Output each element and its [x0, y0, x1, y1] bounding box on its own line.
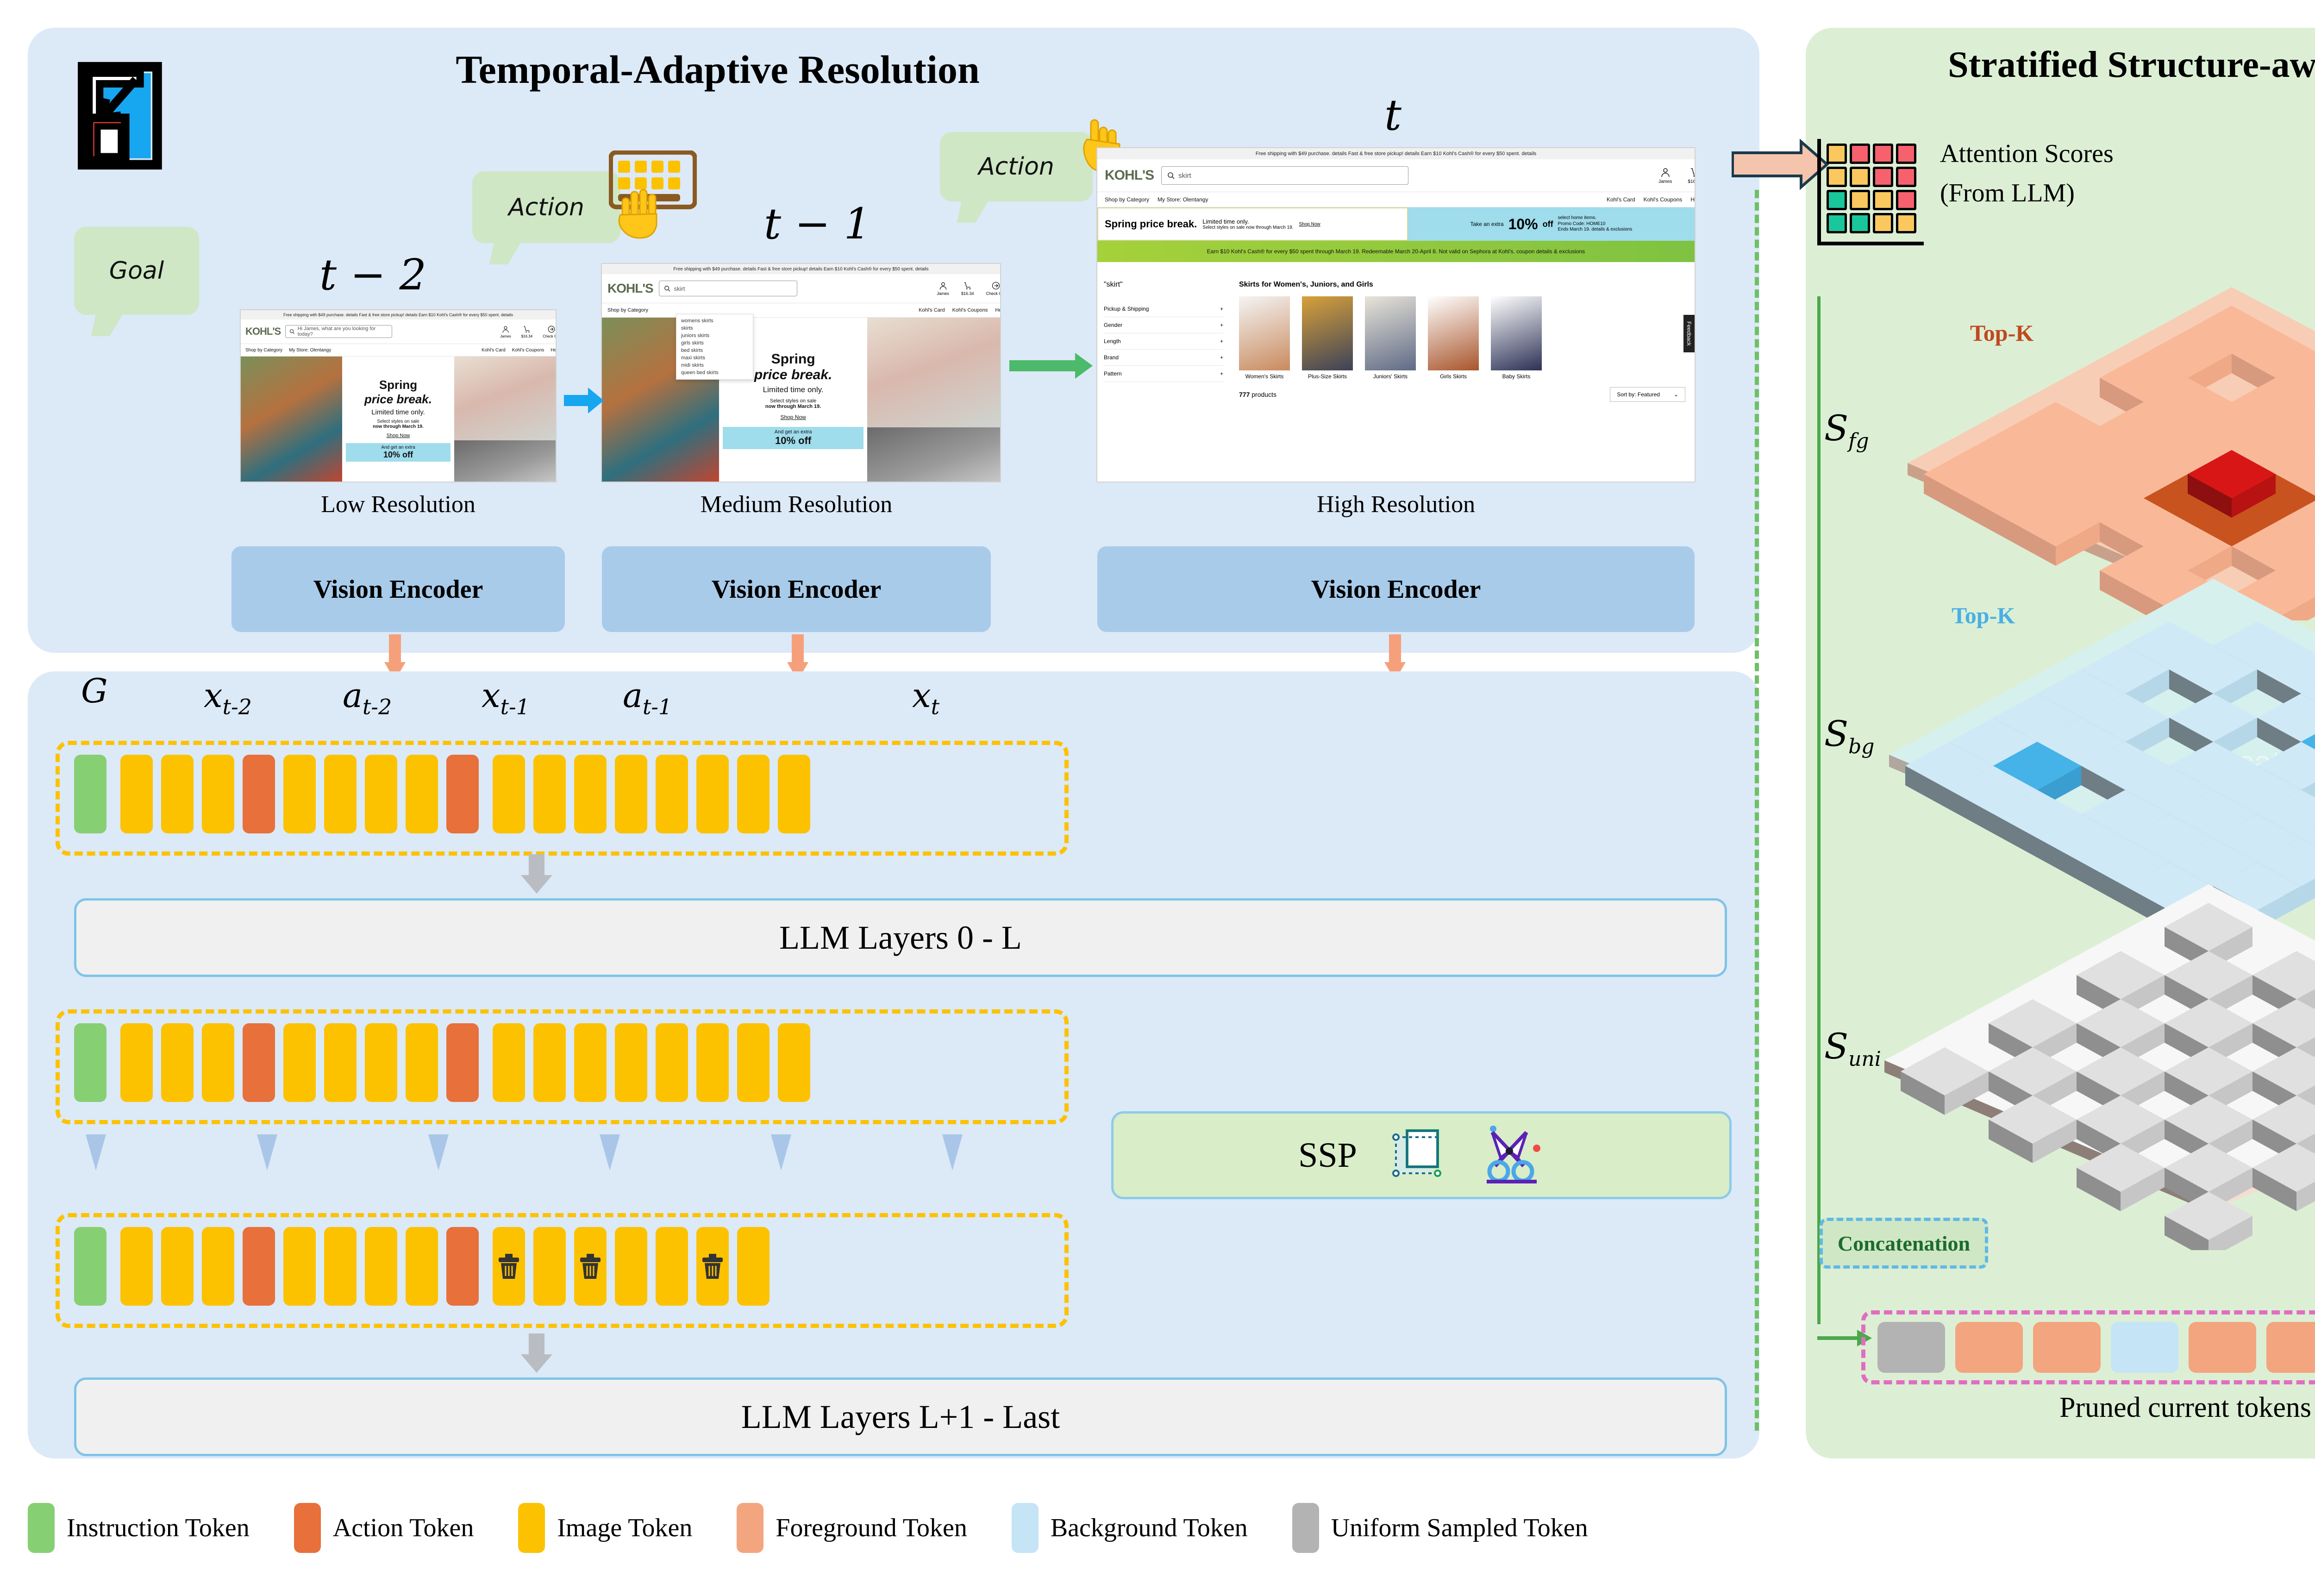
- cart-icon: [1689, 167, 1695, 178]
- checkout-label: Check Out: [543, 334, 556, 338]
- arrow-to-llm-first: [521, 854, 552, 894]
- hero-shoes-photo: [454, 440, 556, 482]
- seq-label-a-t-1-text: a: [623, 676, 643, 715]
- arrow-low-to-medium: [564, 387, 604, 417]
- promo-home-pct: 10%: [1508, 216, 1538, 233]
- vision-encoder-label: Vision Encoder: [1311, 575, 1481, 604]
- attention-cell: [1873, 190, 1893, 210]
- token-image[interactable]: [406, 755, 438, 833]
- token-image[interactable]: [202, 1227, 234, 1306]
- passthrough-chevron: [942, 1134, 963, 1170]
- hero-sub-2: Select styles on sale: [770, 398, 816, 404]
- category-label: Women's Skirts: [1239, 373, 1290, 380]
- attention-score-grid: [1827, 144, 1916, 233]
- category-card[interactable]: Women's Skirts: [1239, 296, 1290, 380]
- s-fg-sub: fg: [1848, 429, 1869, 453]
- token-image-current[interactable]: [574, 1023, 607, 1102]
- facet-row[interactable]: Gender+: [1104, 317, 1223, 333]
- search-icon: [1167, 172, 1175, 179]
- hero-bedding-photo: [867, 318, 1000, 427]
- attention-cell: [1850, 213, 1870, 233]
- token-action[interactable]: [243, 755, 275, 833]
- attention-cell: [1827, 213, 1847, 233]
- category-thumb: [1365, 296, 1416, 370]
- hero-sub-2: Select styles on sale: [377, 419, 419, 424]
- seq-label-x-t-1-sub: t-1: [501, 694, 530, 719]
- pruned-token-blue[interactable]: [2111, 1322, 2178, 1373]
- user-icon: [1660, 167, 1671, 178]
- pruned-tokens-caption: Pruned current tokens: [1861, 1391, 2315, 1424]
- account-button[interactable]: James: [500, 325, 511, 338]
- token-sequence-row-3: [74, 1227, 770, 1306]
- s-fg-label: Sfg: [1824, 407, 1869, 453]
- seq-label-a-t-1: at-1: [623, 676, 672, 719]
- nav-kohls-card[interactable]: Kohl's Card: [919, 307, 945, 313]
- checkout-button[interactable]: Check Out: [986, 281, 1000, 296]
- token-action[interactable]: [243, 1023, 275, 1102]
- cart-icon: [523, 325, 531, 333]
- hero-photo: [241, 357, 342, 482]
- search-input[interactable]: skirt: [659, 281, 797, 296]
- token-image[interactable]: [283, 755, 316, 833]
- action-bubble-2: Action: [940, 132, 1093, 201]
- attention-cell: [1827, 144, 1847, 164]
- attention-scores-label-line2: (From LLM): [1940, 178, 2075, 208]
- nav-kohls-card[interactable]: Kohl's Card: [482, 348, 505, 353]
- vision-encoder-label: Vision Encoder: [313, 575, 483, 604]
- sort-label: Sort by: Featured: [1617, 391, 1660, 398]
- facet-label: Pattern: [1104, 370, 1122, 377]
- s-bg-text: S: [1824, 713, 1848, 754]
- s-uni-text: S: [1824, 1026, 1848, 1067]
- hero-cta[interactable]: Shop Now: [780, 414, 806, 420]
- token-image[interactable]: [161, 1227, 194, 1306]
- hero-title-2: price break.: [754, 367, 832, 383]
- cart-total: $16.34: [961, 291, 974, 296]
- goal-bubble: Goal: [74, 227, 199, 315]
- cart-button[interactable]: $16.34: [1688, 167, 1695, 184]
- seq-label-a-t-2: at-2: [343, 676, 392, 719]
- suggestion-item[interactable]: midi skirts: [676, 362, 753, 369]
- token-image[interactable]: [120, 1227, 153, 1306]
- attention-axis-y: [1817, 139, 1821, 245]
- extra-1: And get an extra: [346, 445, 450, 450]
- promo-spring-detail: Select styles on sale now through March …: [1202, 225, 1293, 230]
- resize-icon: [74, 60, 181, 171]
- cart-total: $16.34: [1688, 179, 1695, 184]
- legend-label: Background Token: [1051, 1513, 1248, 1543]
- promo-banner: Free shipping with $49 purchase. details…: [1097, 148, 1695, 159]
- nav-shop-by-category[interactable]: Shop by Category: [1105, 196, 1149, 203]
- account-button[interactable]: James: [937, 281, 949, 296]
- product-count-suffix: products: [1251, 391, 1276, 398]
- legend-label: Action Token: [333, 1513, 474, 1543]
- token-image-current[interactable]: [615, 755, 647, 833]
- seq-label-x-t-2-text: x: [204, 676, 223, 715]
- legend-item: Instruction Token: [28, 1503, 250, 1553]
- search-value: skirt: [1178, 172, 1191, 180]
- pruned-token-orange[interactable]: [2189, 1322, 2256, 1373]
- legend-swatch: [737, 1503, 763, 1553]
- category-label: Girls Skirts: [1428, 373, 1479, 380]
- legend-label: Instruction Token: [67, 1513, 250, 1543]
- legend-item: Image Token: [518, 1503, 692, 1553]
- resolution-label-medium: Medium Resolution: [602, 491, 991, 518]
- seq-label-x-t-2: xt-2: [204, 676, 252, 719]
- concatenation-pill[interactable]: Concatenation: [1820, 1218, 1988, 1269]
- trash-icon: [701, 1252, 725, 1281]
- panel-connector-dashed-line: [1755, 190, 1759, 1431]
- category-thumb: [1428, 296, 1479, 370]
- hero-sub-1: Limited time only.: [763, 385, 824, 394]
- arrow-medium-to-high: [1009, 352, 1093, 382]
- pruned-token-orange[interactable]: [1955, 1322, 2023, 1373]
- attention-cell: [1873, 144, 1893, 164]
- action-bubble-2-label: Action: [978, 153, 1054, 181]
- nav-kohls-coupons[interactable]: Kohl's Coupons: [1644, 196, 1683, 203]
- arrow-right-circle-icon: [991, 281, 1000, 290]
- token-image-current[interactable]: [778, 755, 810, 833]
- seq-label-a-t-2-text: a: [343, 676, 363, 715]
- hero-sub-1: Limited time only.: [371, 408, 425, 416]
- hero-title-1: Spring: [379, 378, 417, 392]
- token-action[interactable]: [446, 1227, 479, 1306]
- arrow-to-llm-last: [521, 1333, 552, 1373]
- category-label: Juniors' Skirts: [1365, 373, 1416, 380]
- token-sequence-row-1: [74, 755, 810, 833]
- promo-home-lead: Take an extra: [1470, 221, 1504, 227]
- time-label-t-minus-1: t − 1: [764, 199, 871, 249]
- account-name: James: [1658, 179, 1672, 184]
- trash-icon: [497, 1252, 521, 1281]
- token-image[interactable]: [161, 1023, 194, 1102]
- extra-1: And get an extra: [723, 429, 863, 435]
- attention-scores-label-line1: Attention Scores: [1940, 139, 2114, 169]
- search-icon: [289, 329, 294, 334]
- passthrough-chevron: [86, 1134, 106, 1170]
- suggestion-item[interactable]: bed skirts: [676, 347, 753, 354]
- token-image[interactable]: [365, 1023, 397, 1102]
- topk-foreground-label: Top-K: [1970, 319, 2033, 346]
- arrow-right-circle-icon: [547, 325, 556, 333]
- topk-background-label: Top-K: [1952, 602, 2015, 629]
- seq-label-goal: G: [81, 671, 108, 710]
- search-value: skirt: [674, 285, 685, 292]
- seq-label-x-t-1: xt-1: [482, 676, 530, 719]
- attention-cell: [1827, 190, 1847, 210]
- token-image-current[interactable]: [574, 755, 607, 833]
- feedback-label: Feedback: [1686, 321, 1692, 346]
- kohls-logo: KOHL'S: [245, 325, 281, 338]
- passthrough-chevron: [771, 1134, 791, 1170]
- query-heading: "skirt": [1104, 281, 1223, 289]
- nav-help[interactable]: Help: [995, 307, 1000, 313]
- nav-shop-by-category[interactable]: Shop by Category: [245, 348, 282, 353]
- token-image-current[interactable]: [493, 755, 525, 833]
- token-image[interactable]: [324, 755, 357, 833]
- hero-cta[interactable]: Shop Now: [387, 433, 410, 438]
- search-placeholder: Hi James, what are you looking for today…: [298, 326, 388, 337]
- search-icon: [664, 285, 670, 292]
- suggestion-item[interactable]: girls skirts: [676, 339, 753, 347]
- product-count: 777: [1239, 391, 1250, 398]
- passthrough-chevron: [600, 1134, 620, 1170]
- attention-cell: [1850, 190, 1870, 210]
- seq-label-x-t-text: x: [912, 676, 931, 715]
- vision-encoder-label: Vision Encoder: [712, 575, 882, 604]
- llm-layers-last-box[interactable]: LLM Layers L+1 - Last: [74, 1377, 1727, 1456]
- category-card[interactable]: Baby Skirts: [1491, 296, 1542, 380]
- promo-home-line3: Promo Code: HOME10: [1558, 221, 1633, 227]
- facet-row[interactable]: Brand+: [1104, 350, 1223, 366]
- facet-row[interactable]: Pattern+: [1104, 366, 1223, 382]
- legend-label: Uniform Sampled Token: [1331, 1513, 1588, 1543]
- token-instruction[interactable]: [74, 1227, 106, 1306]
- nav-help[interactable]: Help: [551, 348, 556, 353]
- kohls-logo: KOHL'S: [607, 281, 653, 296]
- ssp-label: SSP: [1298, 1135, 1357, 1176]
- nav-my-store[interactable]: My Store: Olentangy: [1157, 196, 1208, 203]
- token-instruction[interactable]: [74, 1023, 106, 1102]
- token-image-current[interactable]: [737, 1227, 770, 1306]
- plus-icon: +: [1220, 370, 1223, 377]
- passthrough-chevron: [257, 1134, 277, 1170]
- seq-label-goal-text: G: [81, 671, 108, 710]
- page-title-left: Temporal-Adaptive Resolution: [324, 46, 1111, 93]
- promo-kohls-cash-strip[interactable]: Earn $10 Kohl's Cash® for every $50 spen…: [1097, 241, 1695, 262]
- suggestion-item[interactable]: queen bed skirts: [676, 369, 753, 376]
- token-image[interactable]: [202, 1023, 234, 1102]
- hero-title-2: price break.: [364, 392, 432, 407]
- search-input[interactable]: Hi James, what are you looking for today…: [285, 325, 392, 338]
- seq-label-a-t-2-sub: t-2: [363, 694, 392, 719]
- plus-icon: +: [1220, 322, 1223, 328]
- extra-2: 10% off: [723, 435, 863, 447]
- token-action[interactable]: [446, 755, 479, 833]
- token-image-current[interactable]: [656, 1023, 688, 1102]
- suggestion-item[interactable]: maxi skirts: [676, 354, 753, 362]
- promo-banner: Free shipping with $49 purchase. details…: [602, 264, 1000, 274]
- token-image-pruned[interactable]: [696, 1227, 729, 1306]
- resolution-label-low: Low Resolution: [231, 491, 565, 518]
- facet-label: Brand: [1104, 354, 1119, 361]
- nav-kohls-coupons[interactable]: Kohl's Coupons: [512, 348, 544, 353]
- cart-total: $16.34: [521, 334, 532, 338]
- kohls-logo: KOHL'S: [1105, 168, 1154, 183]
- token-image[interactable]: [202, 755, 234, 833]
- hero-sub-3: now through March 19.: [373, 424, 423, 429]
- promo-home-strip[interactable]: Take an extra 10% off select home items.…: [1408, 207, 1695, 241]
- token-sequence-row-2: [74, 1023, 810, 1102]
- hero-bedding-photo: [454, 357, 556, 440]
- category-thumb: [1302, 296, 1353, 370]
- legend-item: Action Token: [294, 1503, 474, 1553]
- legend-item: Foreground Token: [737, 1503, 967, 1553]
- token-image[interactable]: [161, 755, 194, 833]
- legend-swatch: [28, 1503, 55, 1553]
- legend-swatch: [518, 1503, 545, 1553]
- action-bubble-1: Action: [472, 171, 620, 243]
- category-card[interactable]: Juniors' Skirts: [1365, 296, 1416, 380]
- plus-icon: +: [1220, 354, 1223, 361]
- token-image-current[interactable]: [533, 1023, 566, 1102]
- nav-kohls-card[interactable]: Kohl's Card: [1607, 196, 1635, 203]
- token-image[interactable]: [406, 1227, 438, 1306]
- category-label: Plus-Size Skirts: [1302, 373, 1353, 380]
- token-image[interactable]: [365, 1227, 397, 1306]
- attention-axis-x: [1817, 242, 1924, 245]
- legend-swatch: [1292, 1503, 1319, 1553]
- nav-kohls-coupons[interactable]: Kohl's Coupons: [952, 307, 988, 313]
- promo-home-off: off: [1543, 219, 1553, 229]
- time-label-t-minus-2: t − 2: [319, 250, 426, 300]
- category-label: Baby Skirts: [1491, 373, 1542, 380]
- suggestion-item[interactable]: juniors skirts: [676, 332, 753, 339]
- token-instruction[interactable]: [74, 755, 106, 833]
- plus-icon: +: [1220, 338, 1223, 344]
- facet-row[interactable]: Pickup & Shipping+: [1104, 301, 1223, 317]
- screenshot-low-resolution[interactable]: Free shipping with $49 purchase. details…: [241, 310, 556, 482]
- extra-2: 10% off: [346, 450, 450, 460]
- action-bubble-1-label: Action: [508, 194, 584, 221]
- resolution-label-high: High Resolution: [1097, 491, 1695, 518]
- s-fg-text: S: [1824, 407, 1848, 449]
- token-image-current[interactable]: [615, 1023, 647, 1102]
- stratum-axis: [1817, 296, 1821, 1324]
- ssp-box[interactable]: SSP: [1111, 1111, 1732, 1199]
- hero-sub-3: now through March 19.: [765, 404, 821, 409]
- legend-item: Uniform Sampled Token: [1292, 1503, 1588, 1553]
- legend-item: Background Token: [1012, 1503, 1248, 1553]
- promo-spring-cta[interactable]: Shop Now: [1299, 222, 1320, 227]
- attention-cell: [1896, 213, 1916, 233]
- passthrough-chevron: [428, 1134, 449, 1170]
- nav-help[interactable]: Help: [1690, 196, 1695, 203]
- token-image[interactable]: [283, 1023, 316, 1102]
- promo-spring-title: Spring price break.: [1105, 218, 1197, 230]
- attention-cell: [1896, 167, 1916, 187]
- time-label-t: t: [1384, 90, 1402, 140]
- token-image-current[interactable]: [737, 755, 770, 833]
- seq-label-x-t-sub: t: [931, 694, 940, 719]
- cart-button[interactable]: $16.34: [521, 325, 532, 338]
- account-name: James: [937, 291, 949, 296]
- token-image-current[interactable]: [656, 1227, 688, 1306]
- vision-encoder-high[interactable]: Vision Encoder: [1097, 546, 1695, 632]
- token-image-current[interactable]: [533, 1227, 566, 1306]
- nav-shop-by-category[interactable]: Shop by Category: [607, 307, 648, 313]
- legend-swatch: [294, 1503, 321, 1553]
- pruned-tokens-row: [1861, 1310, 2315, 1384]
- token-image[interactable]: [406, 1023, 438, 1102]
- pruned-token-orange[interactable]: [2033, 1322, 2101, 1373]
- plus-icon: +: [1220, 306, 1223, 312]
- facet-label: Gender: [1104, 322, 1122, 328]
- token-image-current[interactable]: [615, 1227, 647, 1306]
- attention-cell: [1873, 213, 1893, 233]
- promo-banner: Free shipping with $49 purchase. details…: [241, 310, 556, 319]
- attention-cell: [1827, 167, 1847, 187]
- account-name: James: [500, 334, 511, 338]
- page-title-right: Stratified Structure-aware Pruning: [1833, 44, 2315, 86]
- search-suggestions[interactable]: womens skirts skirts juniors skirts girl…: [676, 314, 753, 380]
- pruned-token-orange[interactable]: [2266, 1322, 2315, 1373]
- token-image[interactable]: [120, 755, 153, 833]
- token-image-current[interactable]: [696, 755, 729, 833]
- token-image-current[interactable]: [533, 755, 566, 833]
- promo-spring-sub: Limited time only.: [1202, 218, 1293, 225]
- feedback-tab[interactable]: Feedback: [1683, 315, 1695, 352]
- user-icon: [939, 281, 948, 290]
- search-input[interactable]: skirt: [1161, 166, 1408, 185]
- seq-label-x-t-1-text: x: [482, 676, 501, 715]
- attention-cell: [1896, 190, 1916, 210]
- category-card[interactable]: Girls Skirts: [1428, 296, 1479, 380]
- legend-swatch: [1012, 1503, 1039, 1553]
- nav-my-store[interactable]: My Store: Olentangy: [289, 348, 331, 353]
- account-button[interactable]: James: [1658, 167, 1672, 184]
- uniform-grid-plane: [1857, 857, 2315, 1250]
- checkout-button[interactable]: Check Out: [543, 325, 556, 338]
- category-thumb: [1239, 296, 1290, 370]
- token-image-current[interactable]: [737, 1023, 770, 1102]
- token-image[interactable]: [365, 755, 397, 833]
- cart-button[interactable]: $16.34: [961, 281, 974, 296]
- token-image-current[interactable]: [656, 755, 688, 833]
- results-heading: Skirts for Women's, Juniors, and Girls: [1239, 281, 1685, 289]
- suggestion-item[interactable]: womens skirts: [676, 317, 753, 325]
- legend-label: Foreground Token: [776, 1513, 967, 1543]
- cart-icon: [963, 281, 972, 290]
- token-action[interactable]: [446, 1023, 479, 1102]
- token-image-pruned[interactable]: [493, 1227, 525, 1306]
- screenshot-medium-resolution[interactable]: Free shipping with $49 purchase. details…: [602, 264, 1000, 482]
- llm-layers-first-label: LLM Layers 0 - L: [779, 919, 1022, 957]
- category-thumb: [1491, 296, 1542, 370]
- token-image[interactable]: [324, 1023, 357, 1102]
- token-image[interactable]: [324, 1227, 357, 1306]
- token-image[interactable]: [283, 1227, 316, 1306]
- crop-icon: [1389, 1124, 1450, 1187]
- attention-cell: [1850, 144, 1870, 164]
- user-icon: [501, 325, 510, 333]
- hero-title-1: Spring: [771, 351, 815, 367]
- facet-row[interactable]: Length+: [1104, 333, 1223, 350]
- vision-encoder-low[interactable]: Vision Encoder: [231, 546, 565, 632]
- category-card[interactable]: Plus-Size Skirts: [1302, 296, 1353, 380]
- facet-label: Pickup & Shipping: [1104, 306, 1149, 312]
- llm-layers-first-box[interactable]: LLM Layers 0 - L: [74, 898, 1727, 977]
- attention-cell: [1850, 167, 1870, 187]
- token-image-pruned[interactable]: [574, 1227, 607, 1306]
- chevron-down-icon: ⌄: [1674, 391, 1678, 398]
- token-action[interactable]: [243, 1227, 275, 1306]
- token-image-current[interactable]: [696, 1023, 729, 1102]
- facet-sidebar[interactable]: "skirt" Pickup & Shipping+ Gender+ Lengt…: [1097, 262, 1230, 482]
- sort-select[interactable]: Sort by: Featured ⌄: [1610, 387, 1685, 402]
- llm-layers-last-label: LLM Layers L+1 - Last: [741, 1398, 1060, 1436]
- suggestion-item[interactable]: skirts: [676, 325, 753, 332]
- promo-home-line4: Ends March 19. details & exclusions: [1558, 227, 1633, 233]
- token-image-current[interactable]: [493, 1023, 525, 1102]
- promo-spring-strip[interactable]: Spring price break. Limited time only. S…: [1097, 207, 1408, 241]
- pruned-token-grey[interactable]: [1877, 1322, 1945, 1373]
- attention-cell: [1873, 167, 1893, 187]
- vision-encoder-medium[interactable]: Vision Encoder: [602, 546, 991, 632]
- token-image[interactable]: [120, 1023, 153, 1102]
- screenshot-high-resolution[interactable]: Free shipping with $49 purchase. details…: [1097, 148, 1695, 482]
- token-image-current[interactable]: [778, 1023, 810, 1102]
